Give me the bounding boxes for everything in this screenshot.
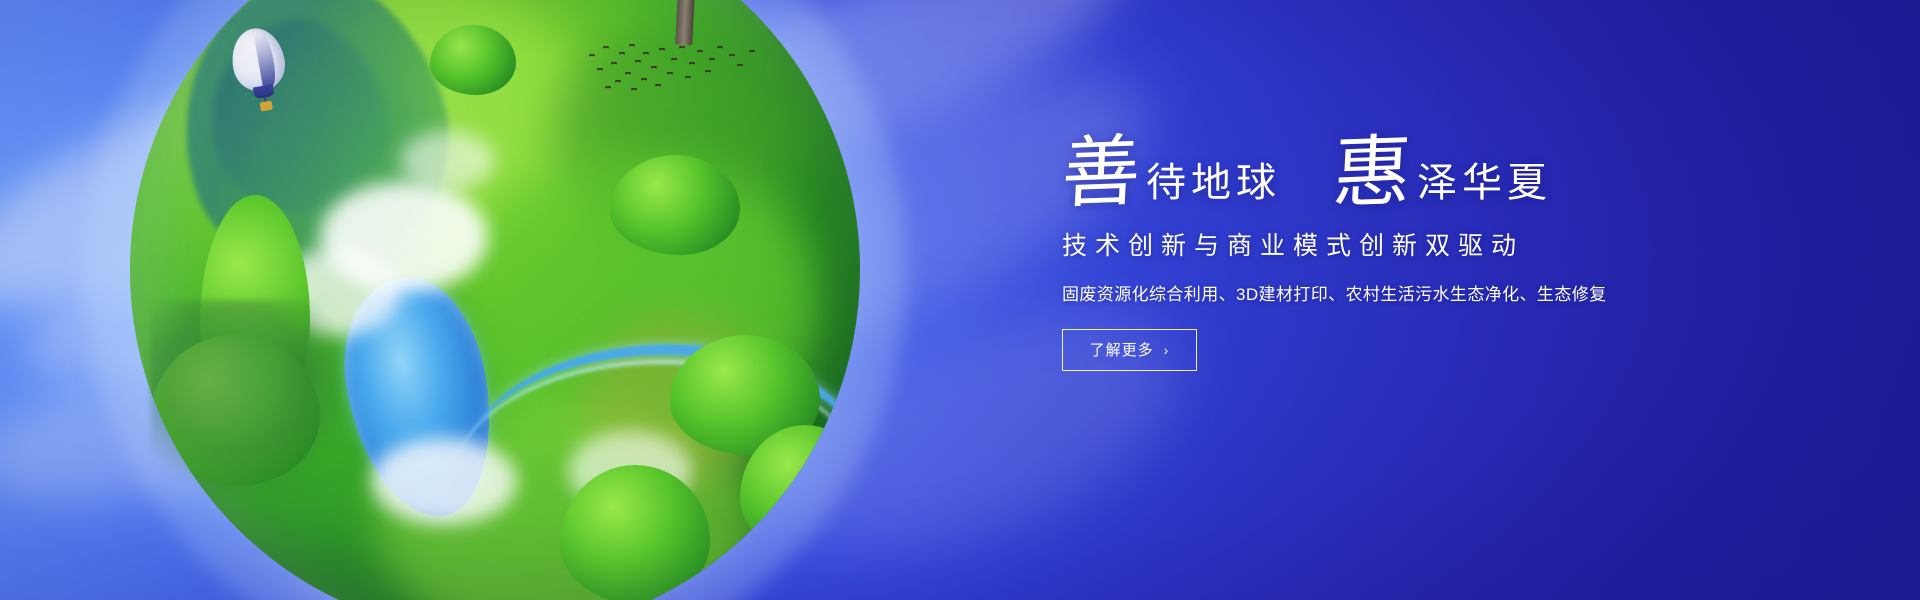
hero-banner: 善 待地球 惠 泽华夏 技术创新与商业模式创新双驱动 固废资源化综合利用、3D建… xyxy=(0,0,1920,600)
headline-text-zehuaxia: 泽华夏 xyxy=(1417,163,1552,210)
learn-more-label: 了解更多 xyxy=(1090,339,1154,360)
description: 固废资源化综合利用、3D建材打印、农村生活污水生态净化、生态修复 xyxy=(1062,280,1762,305)
headline-char-shan: 善 xyxy=(1060,137,1142,211)
headline-char-hui: 惠 xyxy=(1331,137,1413,211)
hero-content: 善 待地球 惠 泽华夏 技术创新与商业模式创新双驱动 固废资源化综合利用、3D建… xyxy=(1062,138,1762,371)
subtitle: 技术创新与商业模式创新双驱动 xyxy=(1062,226,1762,262)
headline: 善 待地球 惠 泽华夏 xyxy=(1062,138,1762,210)
headline-text-daidiqiu: 待地球 xyxy=(1146,163,1281,210)
learn-more-button[interactable]: 了解更多 › xyxy=(1062,329,1197,371)
chevron-right-icon: › xyxy=(1164,343,1170,357)
